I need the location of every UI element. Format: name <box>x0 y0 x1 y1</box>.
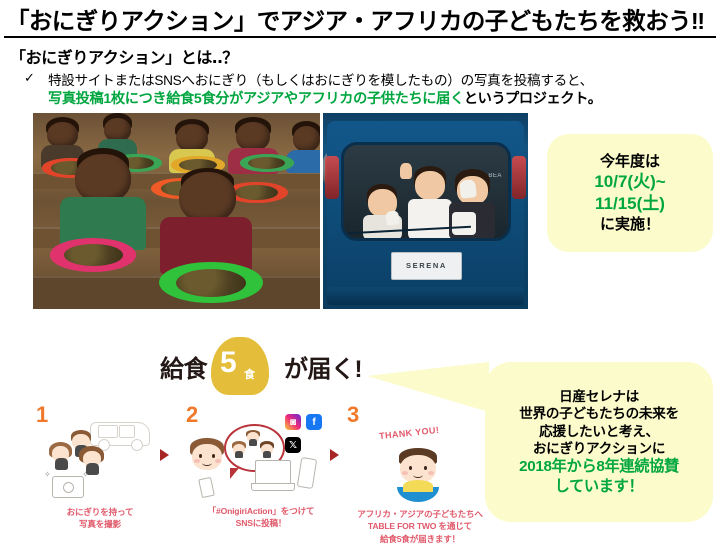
phone-icon <box>297 457 317 489</box>
van-license-plate: SERENA <box>391 252 463 279</box>
bullet-line-2: 写真投稿1枚につき給食5食分がアジアやアフリカの子供たちに届くというプロジェクト… <box>48 88 602 108</box>
step-1-caption: おにぎりを持って 写真を撮影 <box>30 506 170 531</box>
sponsor-line-3: 応援したいと考え、 <box>539 423 659 440</box>
step-arrow-1-to-2 <box>160 449 169 461</box>
sponsor-line-2: 世界の子どもたちの未来を <box>519 405 679 422</box>
checkmark-icon: ✓ <box>24 70 35 86</box>
person-icon-girl-left <box>48 442 74 474</box>
bullet-line-1: 特設サイトまたはSNSへおにぎり（もしくはおにぎりを模したもの）の写真を投稿する… <box>48 69 593 89</box>
step-1: 1 ✧ ✧ おにぎりを持って 写真を撮影 <box>30 400 170 540</box>
thank-you-label: THANK YOU! <box>379 425 440 441</box>
banner-pre-text: 給食 <box>160 349 207 384</box>
x-twitter-icon[interactable]: 𝕏 <box>285 437 301 453</box>
step-1-number: 1 <box>36 404 48 426</box>
sponsor-line-6: しています！ <box>555 477 644 496</box>
banner-meal-count: 5 <box>220 348 237 378</box>
schedule-line-1: 今年度は <box>600 152 660 171</box>
sponsor-line-4: おにぎりアクションに <box>533 440 665 457</box>
section-subtitle: 「おにぎりアクション」とは‥？ <box>10 44 238 68</box>
photo-african-children-lunch <box>33 113 320 309</box>
onigiri-badge-icon: 5 食 <box>211 337 269 395</box>
title-divider <box>4 36 716 38</box>
laptop-icon <box>251 460 293 490</box>
banner-meal-unit: 食 <box>244 366 255 382</box>
banner-post-text: が届く! <box>284 349 362 384</box>
instagram-icon[interactable]: ◙ <box>285 414 301 430</box>
photo-serena-van-children: M BY BEA <box>323 113 528 309</box>
step-3: 3 THANK YOU! アフリカ・アジアの子どもたちへ TABLE FOR T… <box>345 400 495 545</box>
step-arrow-2-to-3 <box>330 449 339 461</box>
bullet-plain: というプロジェクト。 <box>464 91 602 107</box>
callout-sponsor: 日産セレナは 世界の子どもたちの未来を 応援したいと考え、 おにぎりアクションに… <box>485 362 713 522</box>
facebook-icon[interactable]: f <box>306 414 322 430</box>
slide-root: 「おにぎりアクション」でアジア・アフリカの子どもたちを救おう‼ 「おにぎりアクシ… <box>0 0 720 551</box>
step-3-number: 3 <box>347 404 359 426</box>
step-2-number: 2 <box>186 404 198 426</box>
sponsor-years-highlight: 2018年から8年連続協賛 <box>519 457 679 476</box>
camera-icon <box>52 476 84 498</box>
callout-schedule: 今年度は 10/7(火)~ 11/15(土) に実施！ <box>547 134 713 252</box>
schedule-line-4: に実施！ <box>600 215 660 234</box>
bullet-highlight: 写真投稿1枚につき給食5食分がアジアやアフリカの子供たちに届く <box>48 91 464 107</box>
sponsor-line-1: 日産セレナは <box>559 388 639 405</box>
step-2: 2 <box>182 400 342 540</box>
schedule-start-date: 10/7(火)~ <box>594 171 665 193</box>
step-2-caption: 「#OnigiriAction」をつけて SNSに投稿！ <box>176 505 346 530</box>
food-bowl-icon <box>397 487 439 502</box>
step-3-caption: アフリカ・アジアの子どもたちへ TABLE FOR TWO を通じて 給食5食が… <box>329 508 511 545</box>
schedule-end-date: 11/15(土) <box>595 193 665 215</box>
page-title: 「おにぎりアクション」でアジア・アフリカの子どもたちを救おう‼ <box>6 2 718 36</box>
